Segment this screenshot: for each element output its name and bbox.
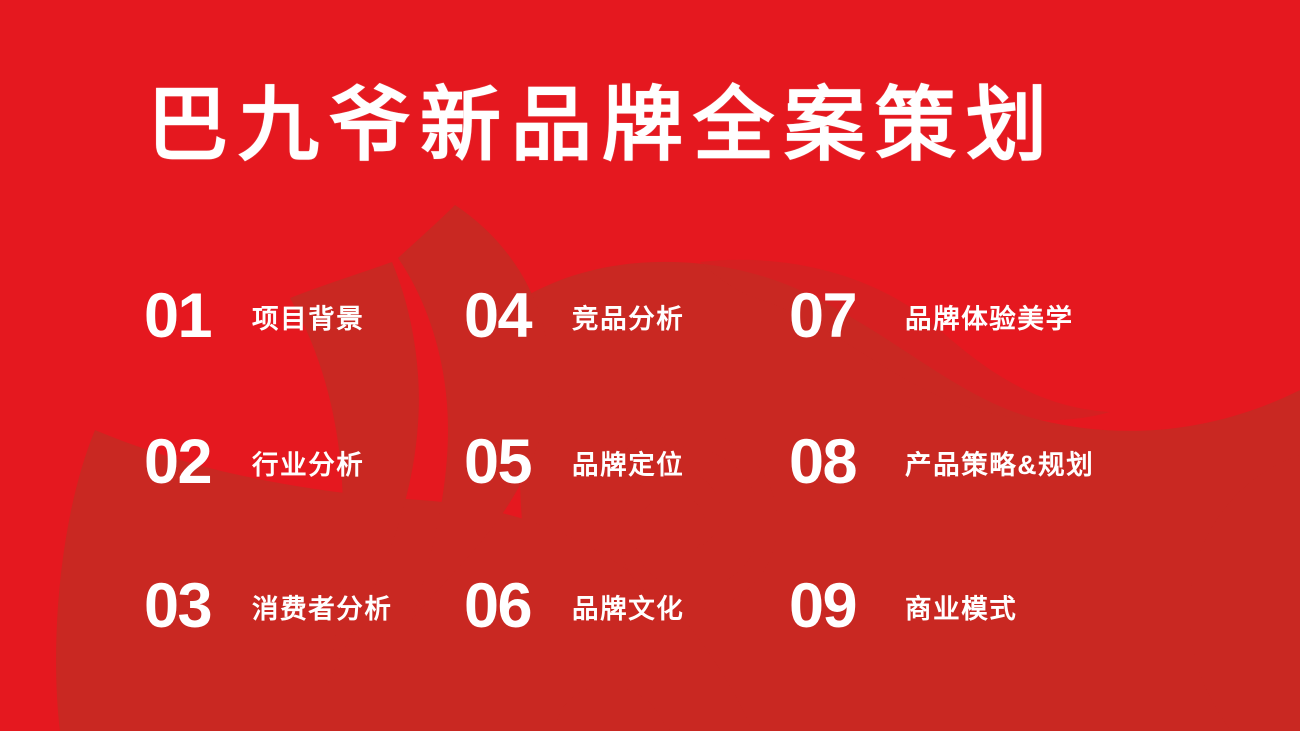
agenda-item-05[interactable]: 05 品牌定位 [464,434,789,492]
agenda-item-label: 项目背景 [252,306,364,333]
agenda-item-number: 01 [144,288,252,346]
agenda-item-number: 06 [464,578,572,636]
agenda-item-04[interactable]: 04 竞品分析 [464,288,789,346]
agenda-item-number: 04 [464,288,572,346]
agenda-item-number: 08 [789,434,905,492]
agenda-item-08[interactable]: 08 产品策略&规划 [789,434,1149,492]
agenda-item-number: 05 [464,434,572,492]
agenda-item-03[interactable]: 03 消费者分析 [144,578,464,636]
agenda-item-number: 03 [144,578,252,636]
slide-title: 巴九爷新品牌全案策划 [147,86,1187,167]
agenda-item-label: 品牌体验美学 [905,306,1074,333]
agenda-item-label: 商业模式 [905,596,1017,623]
agenda-item-02[interactable]: 02 行业分析 [144,434,464,492]
agenda-item-number: 02 [144,434,252,492]
presentation-slide: 巴九爷新品牌全案策划 01 项目背景 04 竞品分析 07 品牌体验美学 02 … [0,0,1300,731]
agenda-item-number: 09 [789,578,905,636]
agenda-item-09[interactable]: 09 商业模式 [789,578,1149,636]
agenda-item-01[interactable]: 01 项目背景 [144,288,464,346]
agenda-item-label: 品牌定位 [572,452,684,479]
agenda-item-label: 行业分析 [252,452,364,479]
agenda-item-06[interactable]: 06 品牌文化 [464,578,789,636]
agenda-item-07[interactable]: 07 品牌体验美学 [789,288,1149,346]
agenda-item-label: 竞品分析 [572,306,684,333]
agenda-item-number: 07 [789,288,905,346]
agenda-list: 01 项目背景 04 竞品分析 07 品牌体验美学 02 行业分析 05 品牌定… [144,288,1204,708]
agenda-item-label: 产品策略&规划 [905,452,1094,479]
agenda-item-label: 品牌文化 [572,596,684,623]
agenda-item-label: 消费者分析 [252,596,393,623]
